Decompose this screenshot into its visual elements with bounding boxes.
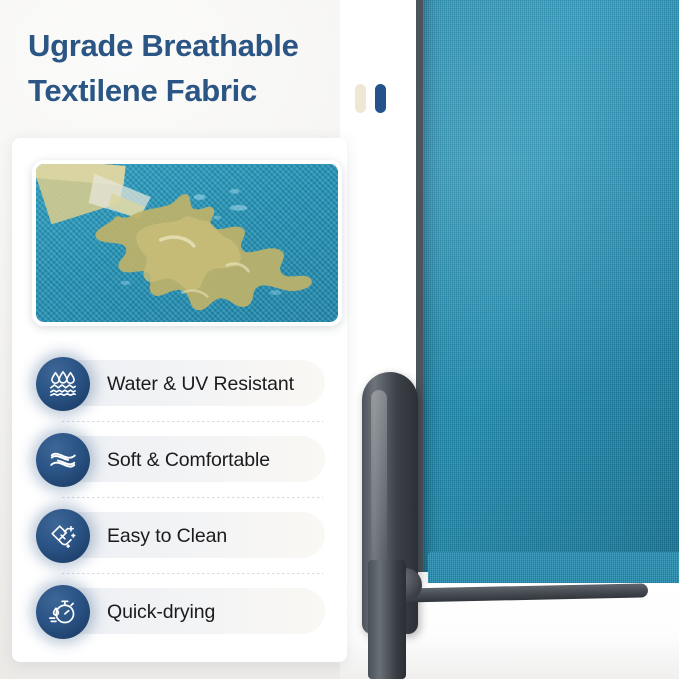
stopwatch-drop-icon	[36, 585, 90, 639]
water-uv-drops-icon	[36, 357, 90, 411]
cleaning-brush-icon	[36, 509, 90, 563]
feature-row-easy-clean[interactable]: Easy to Clean	[26, 498, 333, 574]
feature-label: Quick-drying	[107, 601, 215, 624]
cream-pill-mark-icon	[355, 84, 366, 113]
page-title-line-2: Textilene Fabric	[28, 69, 408, 114]
feature-card: Water & UV Resistant Soft & Comfortable	[12, 138, 347, 662]
page-title-line-1: Ugrade Breathable	[28, 24, 408, 69]
feature-label: Water & UV Resistant	[107, 373, 294, 396]
feature-label: Easy to Clean	[107, 525, 227, 548]
feature-row-soft-comfortable[interactable]: Soft & Comfortable	[26, 422, 333, 498]
page-title: Ugrade Breathable Textilene Fabric	[28, 24, 408, 113]
chair-backrest-fabric	[416, 0, 679, 572]
liquid-spill-photo	[32, 160, 342, 326]
product-infographic: Ugrade Breathable Textilene Fabric	[0, 0, 679, 679]
feature-list: Water & UV Resistant Soft & Comfortable	[26, 346, 333, 650]
title-accent-marks	[355, 84, 386, 113]
navy-pill-mark-icon	[375, 84, 386, 113]
feature-row-water-uv[interactable]: Water & UV Resistant	[26, 346, 333, 422]
feature-row-quick-drying[interactable]: Quick-drying	[26, 574, 333, 650]
feature-label: Soft & Comfortable	[107, 449, 270, 472]
chair-front-leg	[368, 560, 406, 679]
spill-illustration	[36, 164, 338, 326]
soft-waves-icon	[36, 433, 90, 487]
